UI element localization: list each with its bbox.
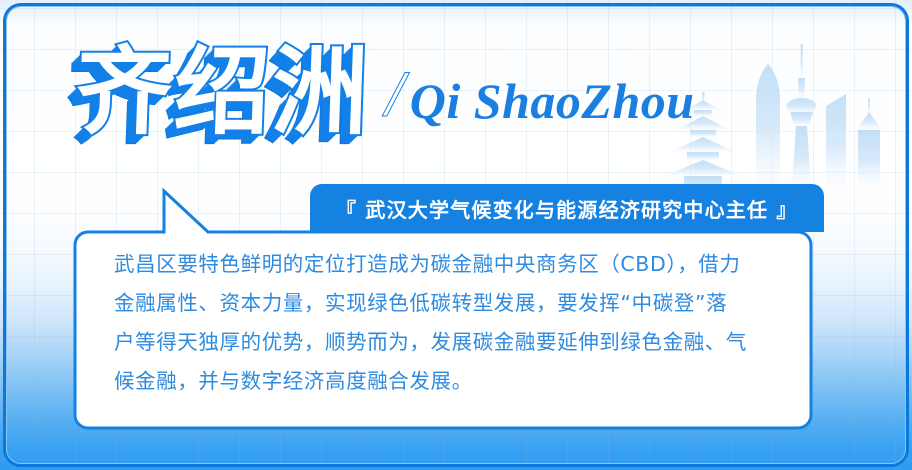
quote-line: 候金融，并与数字经济高度融合发展。 bbox=[114, 362, 774, 401]
poster-card: 齐绍洲 / Qi ShaoZhou 武昌区要特色鲜明的定位打造成为碳金融中央商务… bbox=[0, 0, 912, 470]
office-tower-shape bbox=[826, 94, 846, 186]
spire-tower-shape bbox=[856, 98, 882, 186]
quote-line: 金融属性、资本力量，实现绿色低碳转型发展，要发挥“中碳登”落 bbox=[114, 284, 774, 323]
tv-tower-shape bbox=[787, 44, 817, 186]
quote-line: 户等得天独厚的优势，顺势而为，发展碳金融要延伸到绿色金融、气 bbox=[114, 323, 774, 362]
headline-separator: / bbox=[386, 62, 404, 126]
role-banner: 『 武汉大学气候变化与能源经济研究中心主任 』 bbox=[310, 184, 824, 232]
quote-line: 武昌区要特色鲜明的定位打造成为碳金融中央商务区（CBD），借力 bbox=[114, 245, 774, 284]
headline-name-cn: 齐绍洲 bbox=[74, 44, 371, 140]
headline-name-en: Qi ShaoZhou bbox=[410, 76, 695, 126]
role-banner-label: 『 武汉大学气候变化与能源经济研究中心主任 』 bbox=[336, 194, 798, 223]
quote-text-block: 武昌区要特色鲜明的定位打造成为碳金融中央商务区（CBD），借力 金融属性、资本力… bbox=[114, 245, 774, 401]
curved-tower-shape bbox=[756, 64, 780, 186]
wuhan-skyline-icon bbox=[660, 36, 900, 196]
headline: 齐绍洲 / Qi ShaoZhou bbox=[76, 44, 695, 140]
